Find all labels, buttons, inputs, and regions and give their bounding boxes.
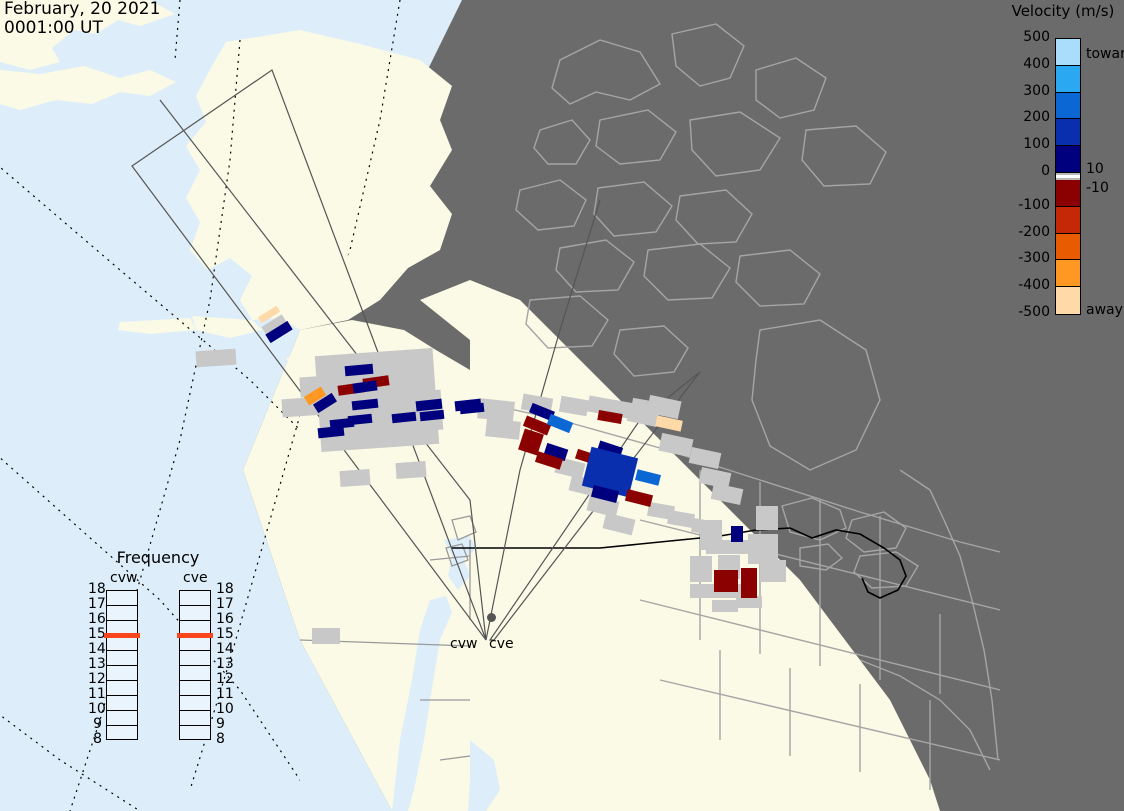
colorbar-segment xyxy=(1056,207,1080,234)
colorbar-segment xyxy=(1056,234,1080,261)
colorbar-tick-label: -300 xyxy=(994,250,1050,266)
ground-scatter-cell xyxy=(312,628,340,644)
colorbar-segment xyxy=(1056,66,1080,93)
frequency-row xyxy=(180,711,210,726)
frequency-marker xyxy=(104,633,140,638)
ground-scatter-cell xyxy=(395,461,426,479)
frequency-tick-label-cve: 11 xyxy=(216,689,234,699)
colorbar-tick-label: -200 xyxy=(994,224,1050,240)
ground-scatter-cell xyxy=(603,513,636,536)
frequency-row xyxy=(107,636,137,651)
colorbar-tick-label: 500 xyxy=(994,29,1050,45)
velocity-cell xyxy=(547,414,573,433)
frequency-row xyxy=(107,726,137,741)
frequency-bar-cve[interactable] xyxy=(179,590,211,740)
ground-scatter-cell xyxy=(485,418,521,439)
radar-label-cve: cve xyxy=(489,636,514,652)
velocity-cell xyxy=(635,469,661,485)
colorbar-segment xyxy=(1056,180,1080,207)
colorbar-tick-label: 200 xyxy=(994,109,1050,125)
frequency-tick-label-cvw: 17 xyxy=(88,599,102,609)
colorbar-tick-label: -100 xyxy=(994,197,1050,213)
frequency-tick-label-cvw: 10 xyxy=(88,704,102,714)
ground-scatter-cell xyxy=(690,556,712,582)
colorbar-zero-lower-label: -10 xyxy=(1086,180,1109,196)
colorbar-segment xyxy=(1056,119,1080,146)
colorbar-tick-label: -500 xyxy=(994,304,1050,320)
colorbar-segment xyxy=(1056,173,1080,180)
frequency-bar-cvw[interactable] xyxy=(106,590,138,740)
frequency-row xyxy=(107,681,137,696)
velocity-cell xyxy=(741,568,757,598)
frequency-legend: Frequency cvw cve 18171615141312111098 1… xyxy=(88,548,228,798)
frequency-row xyxy=(107,711,137,726)
frequency-row xyxy=(107,666,137,681)
frequency-column-header-cvw: cvw xyxy=(110,570,137,586)
colorbar-tick-label: -400 xyxy=(994,277,1050,293)
frequency-row xyxy=(180,651,210,666)
ground-scatter-cell xyxy=(559,396,589,417)
colorbar-segment xyxy=(1056,260,1080,287)
frequency-tick-label-cvw: 8 xyxy=(88,734,102,744)
colorbar-gradient[interactable] xyxy=(1055,38,1081,315)
frequency-tick-label-cve: 17 xyxy=(216,599,234,609)
ground-scatter-cell xyxy=(712,600,738,612)
frequency-tick-label-cvw: 13 xyxy=(88,659,102,669)
frequency-tick-label-cve: 9 xyxy=(216,719,225,729)
frequency-tick-label-cvw: 18 xyxy=(88,584,102,594)
colorbar-segment xyxy=(1056,287,1080,314)
ground-scatter-cell xyxy=(647,502,675,520)
radar-site-dot[interactable] xyxy=(487,613,496,622)
frequency-row xyxy=(180,696,210,711)
title-date: February, 20 2021 xyxy=(4,0,160,19)
velocity-cell xyxy=(726,570,738,592)
frequency-title: Frequency xyxy=(88,548,228,567)
frequency-tick-label-cvw: 12 xyxy=(88,674,102,684)
radar-label-cvw: cvw xyxy=(450,636,477,652)
frequency-tick-label-cve: 18 xyxy=(216,584,234,594)
frequency-tick-label-cvw: 14 xyxy=(88,644,102,654)
ground-scatter-cell xyxy=(756,506,778,530)
frequency-row xyxy=(107,591,137,606)
ground-scatter-cell xyxy=(689,447,722,469)
frequency-tick-label-cve: 10 xyxy=(216,704,234,714)
timestamp-title: February, 20 20210001:00 UT xyxy=(4,0,160,38)
colorbar-segment xyxy=(1056,146,1080,173)
colorbar-tick-label: 100 xyxy=(994,136,1050,152)
frequency-tick-label-cvw: 9 xyxy=(88,719,102,729)
frequency-marker xyxy=(177,633,213,638)
ground-scatter-cell xyxy=(699,467,732,489)
ground-scatter-cell xyxy=(700,520,722,550)
velocity-cell xyxy=(625,489,653,507)
frequency-tick-label-cvw: 15 xyxy=(88,629,102,639)
frequency-row xyxy=(180,606,210,621)
colorbar-tick-label: 300 xyxy=(994,83,1050,99)
colorbar-title: Velocity (m/s) xyxy=(996,2,1124,20)
colorbar-toward-label: toward xyxy=(1086,46,1124,62)
frequency-column-header-cve: cve xyxy=(183,570,208,586)
frequency-row xyxy=(180,726,210,741)
colorbar-zero-upper-label: 10 xyxy=(1086,161,1104,177)
frequency-tick-label-cve: 12 xyxy=(216,674,234,684)
frequency-row xyxy=(180,591,210,606)
velocity-cell xyxy=(731,526,743,542)
frequency-row xyxy=(180,681,210,696)
frequency-tick-label-cve: 8 xyxy=(216,734,225,744)
ground-scatter-cell xyxy=(658,433,693,457)
frequency-tick-label-cve: 16 xyxy=(216,614,234,624)
colorbar-panel: Velocity (m/s) 5004003002001000-100-200-… xyxy=(1000,0,1124,811)
colorbar-tick-label: 400 xyxy=(994,56,1050,72)
colorbar-segment xyxy=(1056,39,1080,66)
title-time: 0001:00 UT xyxy=(4,18,103,38)
frequency-row xyxy=(180,666,210,681)
superdarn-velocity-map: February, 20 20210001:00 UT cvw cve Freq… xyxy=(0,0,1124,811)
velocity-cell xyxy=(714,570,726,592)
frequency-row xyxy=(107,696,137,711)
frequency-tick-label-cvw: 11 xyxy=(88,689,102,699)
frequency-row xyxy=(107,651,137,666)
velocity-cell xyxy=(655,415,683,431)
colorbar-tick-label: 0 xyxy=(994,163,1050,179)
frequency-tick-label-cve: 14 xyxy=(216,644,234,654)
frequency-row xyxy=(107,606,137,621)
frequency-tick-label-cve: 15 xyxy=(216,629,234,639)
frequency-row xyxy=(180,636,210,651)
frequency-tick-label-cve: 13 xyxy=(216,659,234,669)
frequency-tick-label-cvw: 16 xyxy=(88,614,102,624)
ground-scatter-cell xyxy=(195,349,236,368)
colorbar-away-label: away xyxy=(1086,302,1123,318)
ground-scatter-cell xyxy=(339,469,370,487)
colorbar-segment xyxy=(1056,93,1080,120)
